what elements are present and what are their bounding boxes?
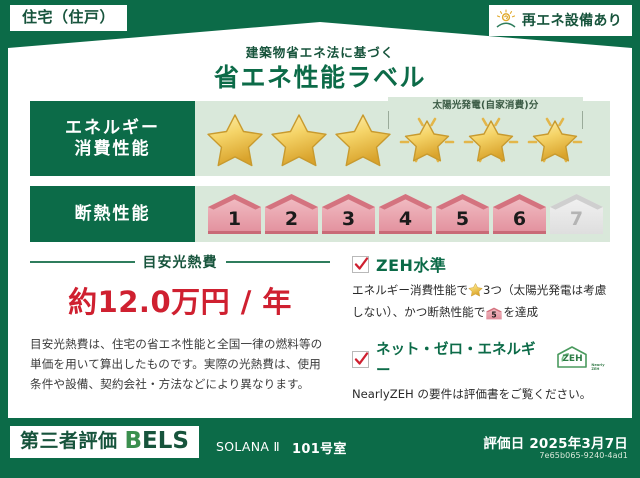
renewable-equipment-label: 再エネ設備あり <box>522 14 622 28</box>
insulation-level-house-inactive: 7 <box>549 193 604 235</box>
evaluation-date-value: 2025年3月7日 <box>529 436 628 452</box>
insulation-level-house: 2 <box>264 193 319 235</box>
bels-logo: BELS <box>125 430 189 453</box>
energy-cost-heading-text: 目安光熱費 <box>143 252 218 272</box>
svg-text:ZEH: ZEH <box>563 354 583 364</box>
insulation-level-house: 5 <box>435 193 490 235</box>
checkbox-checked-icon <box>352 351 369 368</box>
insulation-performance-row: 断熱性能 <box>30 186 610 242</box>
star-filled <box>269 110 329 168</box>
insulation-level-number: 7 <box>570 208 583 235</box>
zeh-badge-sub: Nearly ZEH <box>591 363 612 373</box>
rule-right <box>226 261 331 263</box>
insulation-level-number: 3 <box>342 208 355 235</box>
footer-bar: 第三者評価 BELS SOLANA Ⅱ 101号室 評価日 2025年3月7日 … <box>0 418 640 478</box>
energy-cost-note: 目安光熱費は、住宅の省エネ性能と全国一律の燃料等の単価を用いて算出したものです。… <box>30 335 330 395</box>
page-title: 省エネ性能ラベル <box>8 58 632 94</box>
insulation-level-scale: 1 2 <box>195 193 604 235</box>
net-zero-energy-header: ネット・ゼロ・エネルギー ZEH Nearly ZEH <box>352 338 612 380</box>
star-filled-solar <box>397 110 457 168</box>
zeh-standard-description: エネルギー消費性能で 3つ（太陽光発電は考慮しない）、かつ断熱性能で 5 を達成 <box>352 281 612 326</box>
energy-stars-area: 太陽光発電(自家消費)分 <box>195 101 610 176</box>
zeh-house-badge-icon: ZEH <box>555 345 589 373</box>
insulation-level-house: 3 <box>321 193 376 235</box>
insulation-level-number: 5 <box>456 208 469 235</box>
evaluation-date-label: 評価日 <box>483 436 524 452</box>
rule-left <box>30 261 135 263</box>
label-body: 建築物省エネ法に基づく 省エネ性能ラベル エネルギー 消費性能 太陽光発電(自家… <box>8 22 632 418</box>
housing-type-tag: 住宅（住戸） <box>10 5 127 31</box>
star-filled <box>205 110 265 168</box>
net-zero-energy-title: ネット・ゼロ・エネルギー <box>376 338 544 380</box>
energy-cost-column: 目安光熱費 約12.0万円 / 年 目安光熱費は、住宅の省エネ性能と全国一律の燃… <box>30 252 330 395</box>
renewable-equipment-tag: 再エネ設備あり <box>489 5 632 36</box>
energy-label-card: 住宅（住戸） 再エネ設備あり 建築物省エネ法に基づく 省エネ性能ラベル <box>0 0 640 478</box>
insulation-level-house: 6 <box>492 193 547 235</box>
net-zero-energy-block: ネット・ゼロ・エネルギー ZEH Nearly ZEH NearlyZEH の要… <box>352 338 612 404</box>
energy-star-rating <box>195 110 585 168</box>
zeh-badge: ZEH Nearly ZEH <box>555 345 612 373</box>
star-filled-solar <box>461 110 521 168</box>
insulation-level-number: 4 <box>399 208 412 235</box>
zeh-standard-title: ZEH水準 <box>376 252 446 276</box>
svg-text:5: 5 <box>492 310 497 319</box>
bels-logo-b: B <box>125 428 143 454</box>
bels-badge: 第三者評価 BELS <box>10 426 199 458</box>
energy-cost-value: 約12.0万円 / 年 <box>30 279 330 321</box>
net-zero-energy-description: NearlyZEH の要件は評価書をご覧ください。 <box>352 385 612 404</box>
energy-performance-label: エネルギー 消費性能 <box>30 101 195 176</box>
bels-logo-els: ELS <box>142 428 189 454</box>
building-name: SOLANA Ⅱ <box>216 439 280 454</box>
energy-cost-heading: 目安光熱費 <box>30 252 330 272</box>
insulation-level-house: 1 <box>207 193 262 235</box>
zeh-standard-block: ZEH水準 エネルギー消費性能で 3つ（太陽光発電は考慮しない）、かつ断熱性能で… <box>352 252 612 326</box>
star-filled <box>333 110 393 168</box>
insulation-levels-area: 1 2 <box>195 186 610 242</box>
star-inline-icon <box>468 282 483 303</box>
energy-performance-row: エネルギー 消費性能 太陽光発電(自家消費)分 <box>30 101 610 176</box>
insulation-level-number: 2 <box>285 208 298 235</box>
zeh-column: ZEH水準 エネルギー消費性能で 3つ（太陽光発電は考慮しない）、かつ断熱性能で… <box>352 252 612 416</box>
insulation-level-house: 4 <box>378 193 433 235</box>
evaluation-id: 7e65b065-9240-4ad1 <box>539 451 628 460</box>
insulation-level-inline-icon: 5 <box>486 307 502 326</box>
third-party-label: 第三者評価 <box>20 432 118 451</box>
evaluation-date: 評価日 2025年3月7日 <box>483 432 628 452</box>
star-filled-solar <box>525 110 585 168</box>
room-number: 101号室 <box>292 438 347 457</box>
insulation-performance-label: 断熱性能 <box>30 186 195 242</box>
insulation-level-number: 1 <box>228 208 241 235</box>
insulation-level-number: 6 <box>513 208 526 235</box>
zeh-standard-header: ZEH水準 <box>352 252 612 276</box>
sun-solar-icon <box>495 9 517 32</box>
checkbox-checked-icon <box>352 256 369 273</box>
